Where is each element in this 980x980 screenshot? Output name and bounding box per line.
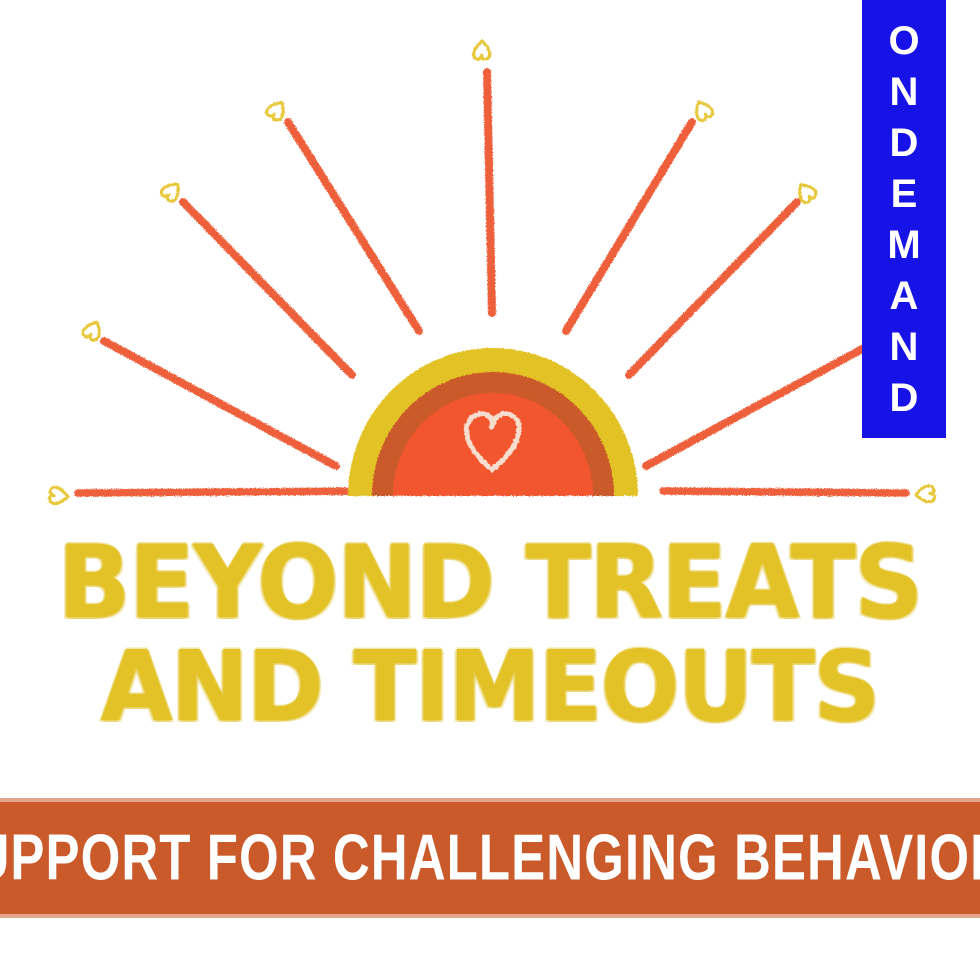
ondemand-letter-7: D <box>890 373 919 424</box>
ondemand-letter-3: E <box>891 169 918 220</box>
ondemand-letter-0: O <box>888 16 919 67</box>
subtitle-text: SUPPORT FOR CHALLENGING BEHAVIORS <box>0 826 980 891</box>
title-line-2: AND TIMEOUTS <box>0 632 980 742</box>
title-line-1: BEYOND TREATS <box>0 528 980 638</box>
banner-bottom-edge <box>0 913 980 918</box>
poster-canvas: O N D E M A N D BEYOND TREATS AND TIMEOU… <box>0 0 980 980</box>
ondemand-letter-4: M <box>887 220 920 271</box>
ondemand-letter-6: N <box>890 322 919 373</box>
subtitle-banner: SUPPORT FOR CHALLENGING BEHAVIORS <box>0 802 980 914</box>
ondemand-letter-5: A <box>890 271 919 322</box>
ondemand-letter-2: D <box>890 118 919 169</box>
poster-title: BEYOND TREATS AND TIMEOUTS <box>0 528 980 736</box>
banner-top-edge <box>0 798 980 803</box>
ondemand-badge[interactable]: O N D E M A N D <box>862 0 946 438</box>
ondemand-letter-1: N <box>890 67 919 118</box>
sunrise-logo <box>0 0 980 530</box>
